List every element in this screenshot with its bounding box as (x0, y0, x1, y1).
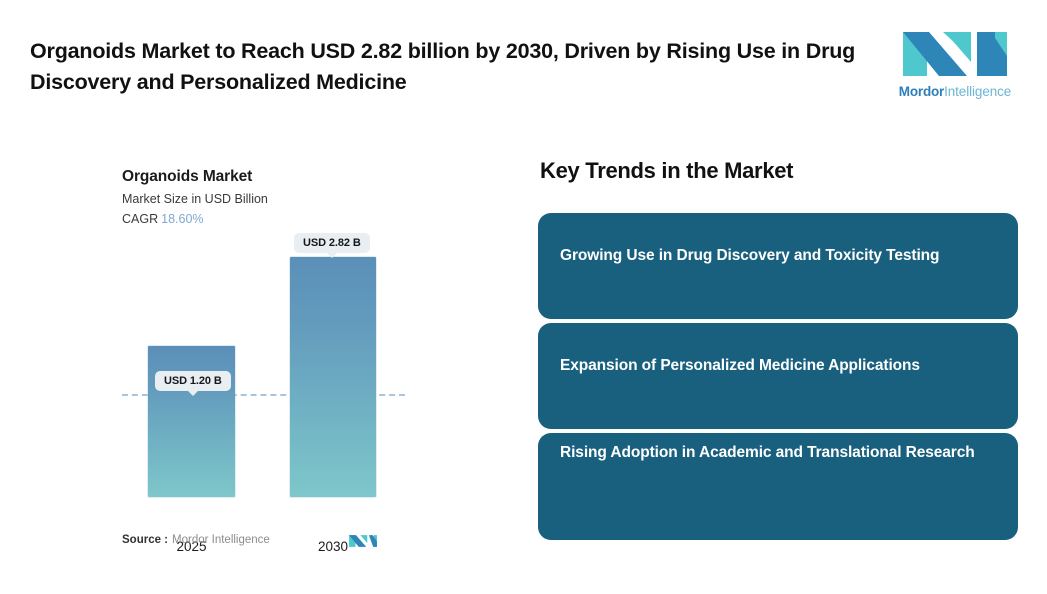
brand-wordmark: MordorIntelligence (895, 85, 1015, 99)
chart-source: Source :Mordor Intelligence (122, 534, 270, 546)
brand-name-bold: Mordor (899, 84, 944, 99)
page-headline: Organoids Market to Reach USD 2.82 billi… (30, 36, 870, 97)
mordor-intelligence-logo-mark-icon (899, 28, 1011, 80)
key-trends-title: Key Trends in the Market (540, 158, 793, 184)
value-label-2030: USD 2.82 B (294, 233, 370, 253)
source-value: Mordor Intelligence (172, 534, 270, 546)
brand-name-light: Intelligence (944, 84, 1011, 99)
trend-card-2-text: Expansion of Personalized Medicine Appli… (560, 353, 996, 378)
bar-2025 (148, 346, 235, 497)
brand-logo: MordorIntelligence (895, 28, 1015, 108)
chart-panel: Organoids Market Market Size in USD Bill… (0, 150, 520, 570)
bar-2030 (290, 257, 376, 497)
trend-card-3[interactable]: Rising Adoption in Academic and Translat… (538, 433, 1018, 540)
value-label-2025: USD 1.20 B (155, 371, 231, 391)
mordor-mark-small-icon (348, 532, 378, 550)
trend-card-1-text: Growing Use in Drug Discovery and Toxici… (560, 243, 996, 268)
bar-chart-plot-area: USD 1.20 B USD 2.82 B 2025 2030 (0, 150, 520, 570)
trend-card-1[interactable]: Growing Use in Drug Discovery and Toxici… (538, 213, 1018, 319)
trend-card-3-text: Rising Adoption in Academic and Translat… (560, 440, 996, 465)
source-label: Source : (122, 534, 168, 546)
trend-card-2[interactable]: Expansion of Personalized Medicine Appli… (538, 323, 1018, 429)
